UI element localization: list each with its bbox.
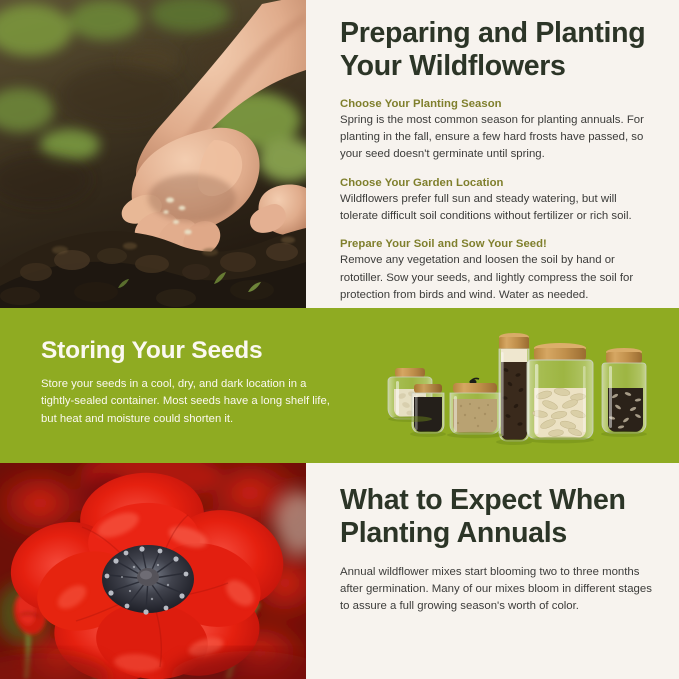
block-prepare-soil: Prepare Your Soil and Sow Your Seed! Rem… xyxy=(340,238,657,304)
soil-illustration xyxy=(0,0,306,308)
storing-text-block: Storing Your Seeds Store your seeds in a… xyxy=(41,338,341,428)
jar-tall-dark-seeds xyxy=(499,333,529,441)
block-planting-season: Choose Your Planting Season Spring is th… xyxy=(340,98,657,164)
section-what-to-expect: What to Expect When Planting Annuals Ann… xyxy=(0,463,679,679)
preparing-text-panel: Preparing and Planting Your Wildflowers … xyxy=(306,0,679,308)
what-to-expect-heading: What to Expect When Planting Annuals xyxy=(340,484,655,551)
block-garden-location: Choose Your Garden Location Wildflowers … xyxy=(340,177,657,226)
infographic-page: Preparing and Planting Your Wildflowers … xyxy=(0,0,679,679)
subheading-prepare-soil: Prepare Your Soil and Sow Your Seed! xyxy=(340,238,657,250)
section-storing-your-seeds: Storing Your Seeds Store your seeds in a… xyxy=(0,308,679,463)
seed-storage-jars-image xyxy=(378,326,668,451)
subheading-garden-location: Choose Your Garden Location xyxy=(340,177,657,189)
storing-heading: Storing Your Seeds xyxy=(41,338,341,365)
body-prepare-soil: Remove any vegetation and loosen the soi… xyxy=(340,252,657,304)
red-poppy-flower-image xyxy=(0,463,306,679)
subheading-planting-season: Choose Your Planting Season xyxy=(340,98,657,110)
what-to-expect-body: Annual wildflower mixes start blooming t… xyxy=(340,564,655,616)
jar-black-seeds xyxy=(412,384,444,433)
body-planting-season: Spring is the most common season for pla… xyxy=(340,112,657,164)
section-preparing-and-planting: Preparing and Planting Your Wildflowers … xyxy=(0,0,679,308)
storing-body: Store your seeds in a cool, dry, and dar… xyxy=(41,376,341,428)
seed-jars-illustration xyxy=(378,326,668,451)
what-to-expect-text-panel: What to Expect When Planting Annuals Ann… xyxy=(306,463,679,679)
page-title: Preparing and Planting Your Wildflowers xyxy=(340,17,657,84)
body-garden-location: Wildflowers prefer full sun and steady w… xyxy=(340,191,657,226)
jar-fine-tan-seeds xyxy=(450,378,500,434)
jar-striped-sunflower-seeds xyxy=(602,348,646,433)
hands-planting-seeds-in-soil-image xyxy=(0,0,306,308)
jar-flat-pale-seeds xyxy=(527,343,593,439)
poppy-illustration xyxy=(0,463,306,679)
